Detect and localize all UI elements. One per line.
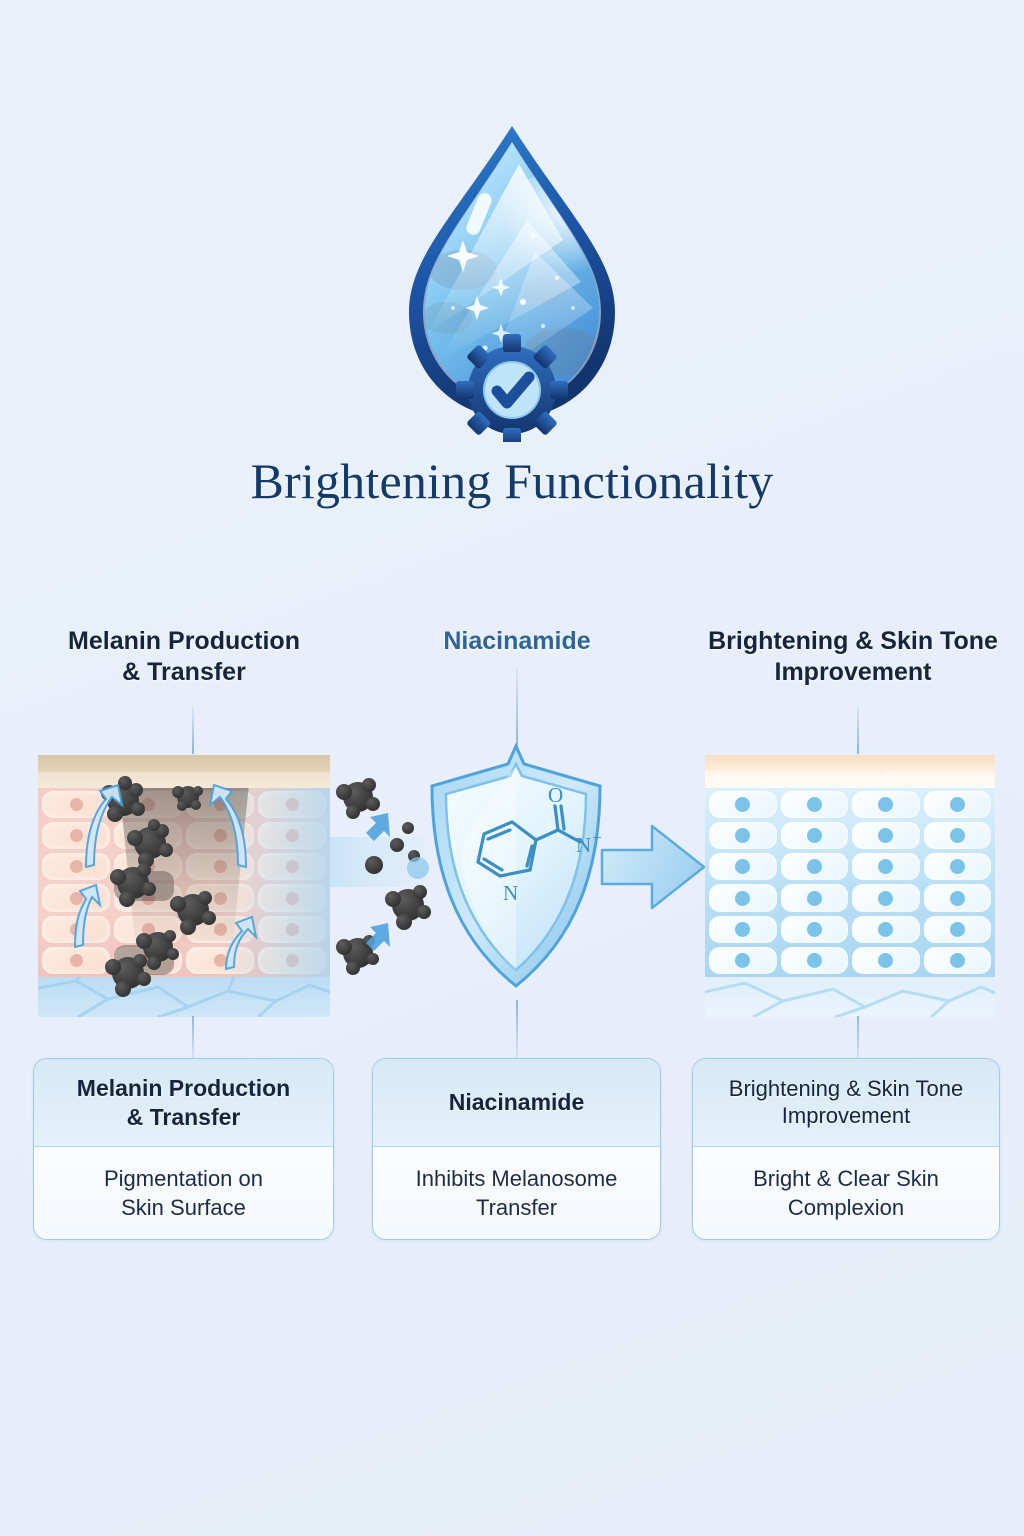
card-title-line-1: Melanin Production	[77, 1075, 290, 1101]
header-line-1: Niacinamide	[372, 626, 662, 657]
skin-cell	[781, 884, 849, 911]
melanosome-particle-icon	[101, 776, 216, 997]
header-line-2: Improvement	[692, 657, 1014, 688]
connector-line-bottom-right	[857, 1016, 859, 1058]
skin-cell	[852, 822, 920, 849]
info-card-melanin[interactable]: Melanin Production & Transfer Pigmentati…	[33, 1058, 334, 1240]
skin-cell	[709, 916, 777, 943]
keratinocyte-grid	[705, 788, 995, 977]
card-body-line-2: Transfer	[476, 1195, 557, 1220]
connector-line-top-left	[192, 706, 194, 754]
skin-cell	[924, 947, 992, 974]
skin-cross-section-pigmented	[38, 755, 330, 1017]
card-body-line-2: Skin Surface	[121, 1195, 246, 1220]
card-body-line-1: Inhibits Melanosome	[416, 1166, 618, 1191]
card-title: Melanin Production & Transfer	[34, 1059, 333, 1147]
skin-cell	[781, 947, 849, 974]
info-card-brightening[interactable]: Brightening & Skin Tone Improvement Brig…	[692, 1058, 1000, 1240]
card-title: Niacinamide	[373, 1059, 660, 1147]
card-body: Inhibits Melanosome Transfer	[373, 1147, 660, 1240]
skin-cell	[709, 822, 777, 849]
stage-header-niacinamide: Niacinamide	[372, 626, 662, 657]
skin-cell	[781, 916, 849, 943]
card-title-line-2: Improvement	[782, 1103, 910, 1128]
atom-label-n-ring: N	[503, 881, 518, 905]
water-droplet-gear-check-logo	[367, 112, 657, 442]
connector-line-bottom-mid	[516, 1000, 518, 1058]
skin-cell	[852, 916, 920, 943]
header-line-1: Melanin Production	[38, 626, 330, 657]
connector-line-bottom-left	[192, 1016, 194, 1058]
melanosome-particle-group	[38, 755, 330, 1017]
stratum-corneum-upper	[705, 755, 995, 771]
header-line-2: & Transfer	[38, 657, 330, 688]
connector-line-top-right	[857, 706, 859, 754]
skin-cell	[852, 853, 920, 880]
skin-cell	[924, 853, 992, 880]
skin-cell	[924, 916, 992, 943]
card-title-line-1: Brightening & Skin Tone	[729, 1076, 963, 1101]
skin-cell	[709, 791, 777, 818]
skin-cell	[924, 884, 992, 911]
skin-cell	[924, 791, 992, 818]
collagen-network-icon	[705, 977, 995, 1017]
card-body: Bright & Clear Skin Complexion	[693, 1147, 999, 1240]
skin-cell	[709, 947, 777, 974]
card-title: Brightening & Skin Tone Improvement	[693, 1059, 999, 1147]
card-body-line-1: Pigmentation on	[104, 1166, 263, 1191]
niacinamide-shield: O N N −	[424, 742, 608, 992]
stage-header-melanin: Melanin Production & Transfer	[38, 626, 330, 687]
skin-cell	[781, 791, 849, 818]
card-body-line-1: Bright & Clear Skin	[753, 1166, 939, 1191]
skin-cell	[852, 884, 920, 911]
card-title-line-2: & Transfer	[127, 1104, 241, 1130]
skin-cell	[852, 947, 920, 974]
card-title-line-1: Niacinamide	[449, 1089, 585, 1115]
page-title: Brightening Functionality	[0, 452, 1024, 510]
dermis-layer	[705, 977, 995, 1017]
atom-label-o: O	[548, 783, 563, 807]
skin-cell	[709, 853, 777, 880]
card-body-line-2: Complexion	[788, 1195, 904, 1220]
infographic-canvas: Brightening Functionality Melanin Produc…	[0, 0, 1024, 1536]
right-arrow-icon	[600, 812, 710, 922]
skin-cell	[781, 822, 849, 849]
skin-cell	[781, 853, 849, 880]
skin-cell	[924, 822, 992, 849]
gear-check-badge	[456, 334, 568, 442]
info-card-niacinamide[interactable]: Niacinamide Inhibits Melanosome Transfer	[372, 1058, 661, 1240]
skin-cell	[709, 884, 777, 911]
atom-label-n-amide: N	[576, 833, 591, 857]
skin-cell	[852, 791, 920, 818]
stratum-corneum-lower	[705, 771, 995, 788]
stage-header-brightening: Brightening & Skin Tone Improvement	[692, 626, 1014, 687]
card-body: Pigmentation on Skin Surface	[34, 1147, 333, 1240]
header-line-1: Brightening & Skin Tone	[692, 626, 1014, 657]
skin-cross-section-bright	[705, 755, 995, 1017]
